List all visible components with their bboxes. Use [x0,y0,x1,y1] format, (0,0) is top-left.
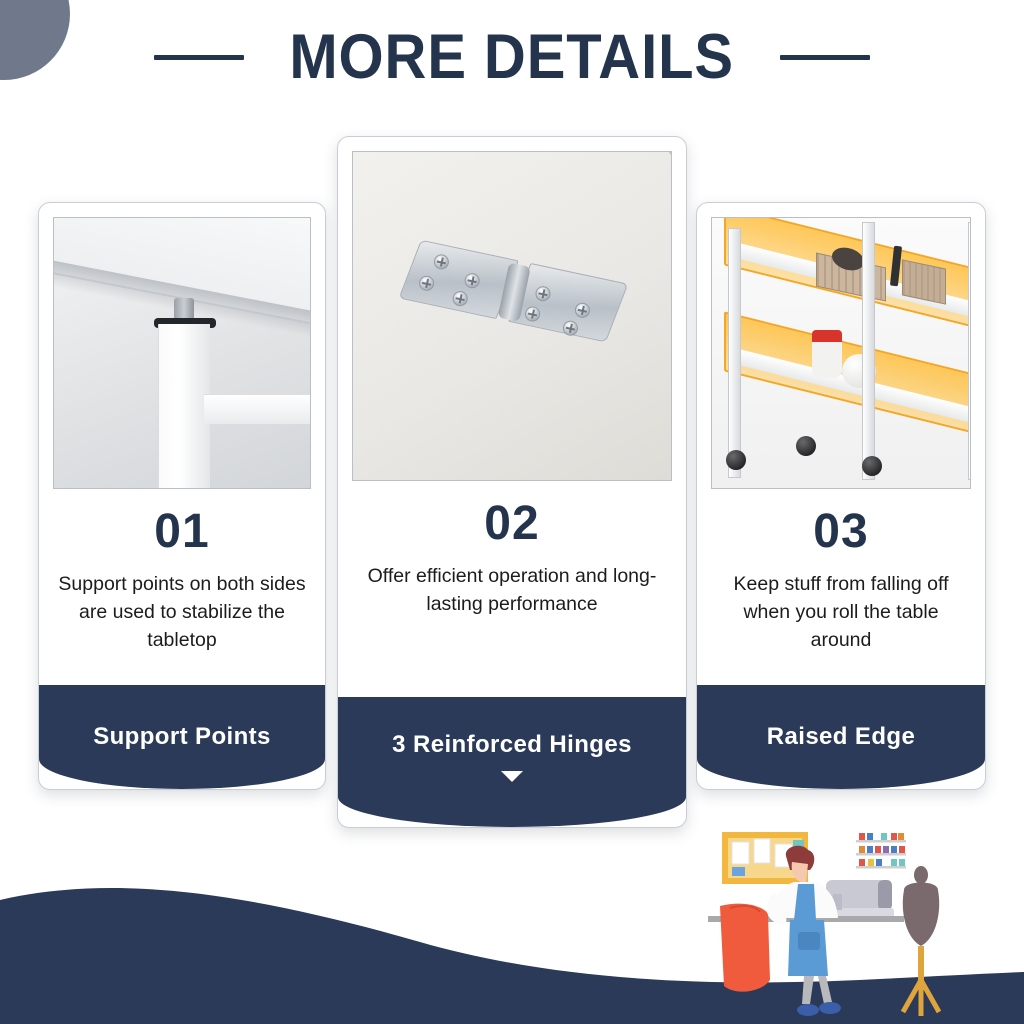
card-description-01: Support points on both sides are used to… [53,571,311,654]
thread-spool-rack [856,833,906,869]
card-footer-label-01: Support Points [93,723,271,751]
card-footer-01[interactable]: Support Points [39,685,325,789]
card-description-03: Keep stuff from falling off when you rol… [711,571,971,654]
reinforced-hinge-photo [352,151,672,481]
card-description-02: Offer efficient operation and long-lasti… [352,563,672,618]
red-fabric [720,904,770,992]
card-footer-03[interactable]: Raised Edge [697,685,985,789]
chevron-down-icon[interactable] [501,771,523,782]
raised-edge-cart-photo [711,217,971,489]
card-number-01: 01 [53,507,311,557]
sewing-room-scene [690,820,1024,1024]
detail-card-03[interactable]: 03 Keep stuff from falling off when you … [696,202,986,790]
card-number-02: 02 [352,499,672,549]
detail-card-02[interactable]: 02 Offer efficient operation and long-la… [337,136,687,828]
table-leg-support-photo [53,217,311,489]
dress-form-mannequin [903,866,939,1016]
card-footer-02[interactable]: 3 Reinforced Hinges [338,697,686,827]
detail-card-01[interactable]: 01 Support points on both sides are used… [38,202,326,790]
card-number-03: 03 [711,507,971,557]
card-footer-label-03: Raised Edge [767,723,915,751]
card-footer-label-02: 3 Reinforced Hinges [392,731,632,759]
